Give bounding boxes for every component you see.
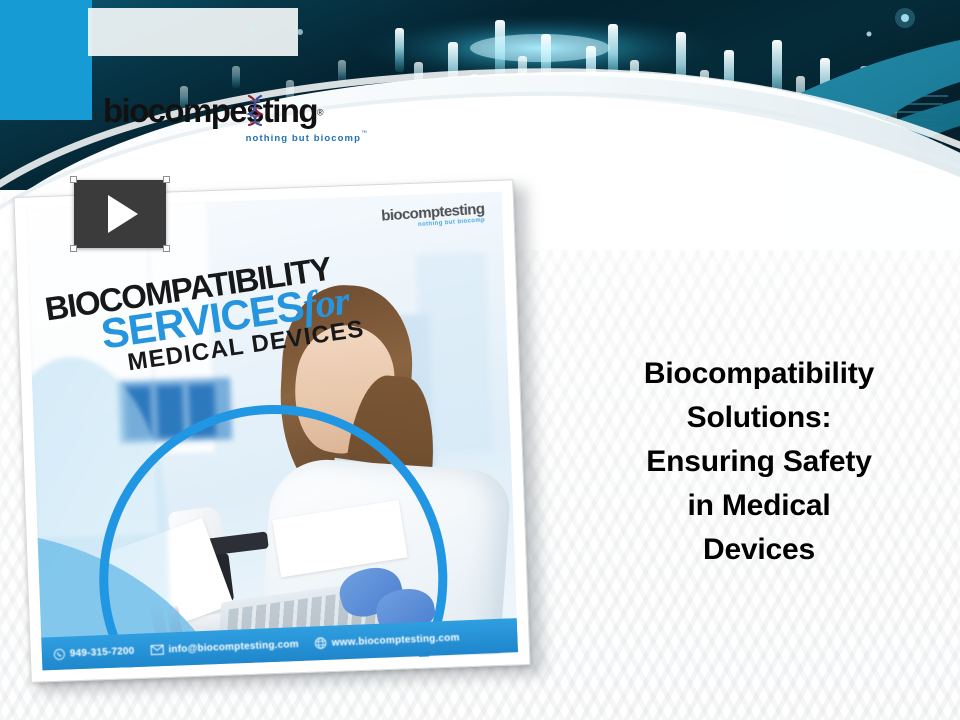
slide-title-line2: Solutions: bbox=[575, 396, 943, 440]
selection-handle-top-right[interactable] bbox=[163, 176, 170, 183]
lab-binder-2 bbox=[156, 385, 184, 438]
selection-handle-top-left[interactable] bbox=[70, 176, 77, 183]
logo-text-testing: esting bbox=[229, 92, 317, 129]
selection-handle-bottom-right[interactable] bbox=[163, 245, 170, 252]
presentation-slide: biocompesting® nothing but biocomp™ bbox=[0, 0, 960, 720]
video-play-overlay[interactable] bbox=[74, 180, 166, 248]
slide-title: Biocompatibility Solutions: Ensuring Saf… bbox=[575, 352, 943, 572]
contact-website: www.biocomptesting.com bbox=[315, 631, 460, 649]
email-icon bbox=[150, 645, 163, 656]
logo-tagline: nothing but biocomp bbox=[246, 133, 361, 144]
slide-title-line3: Ensuring Safety bbox=[575, 440, 943, 484]
contact-phone: 949-315-7200 bbox=[54, 645, 135, 659]
logo-tagline-tm: ™ bbox=[361, 131, 367, 137]
slide-title-line4: in Medical bbox=[575, 484, 943, 528]
play-triangle-icon bbox=[108, 195, 138, 233]
brand-logo: biocompesting® nothing but biocomp™ bbox=[103, 92, 373, 146]
contact-phone-text: 949-315-7200 bbox=[70, 645, 135, 659]
play-button[interactable] bbox=[74, 180, 166, 248]
video-thumbnail-image: BIOCOMPATIBILITY SERVICESfor MEDICAL DEV… bbox=[26, 192, 518, 671]
dna-helix-icon bbox=[244, 94, 266, 126]
selection-handle-bottom-left[interactable] bbox=[70, 245, 77, 252]
contact-website-text: www.biocomptesting.com bbox=[332, 632, 460, 648]
slide-title-line1: Biocompatibility bbox=[575, 352, 943, 396]
phone-icon bbox=[54, 648, 65, 659]
logo-text-biocomp: biocomp bbox=[103, 92, 229, 129]
slide-title-line5: Devices bbox=[575, 528, 943, 572]
globe-icon bbox=[315, 637, 327, 649]
logo-registered-mark: ® bbox=[317, 108, 324, 118]
video-thumbnail-card[interactable]: BIOCOMPATIBILITY SERVICESfor MEDICAL DEV… bbox=[13, 179, 530, 683]
contact-email: info@biocomptesting.com bbox=[150, 639, 299, 656]
contact-email-text: info@biocomptesting.com bbox=[168, 639, 299, 655]
